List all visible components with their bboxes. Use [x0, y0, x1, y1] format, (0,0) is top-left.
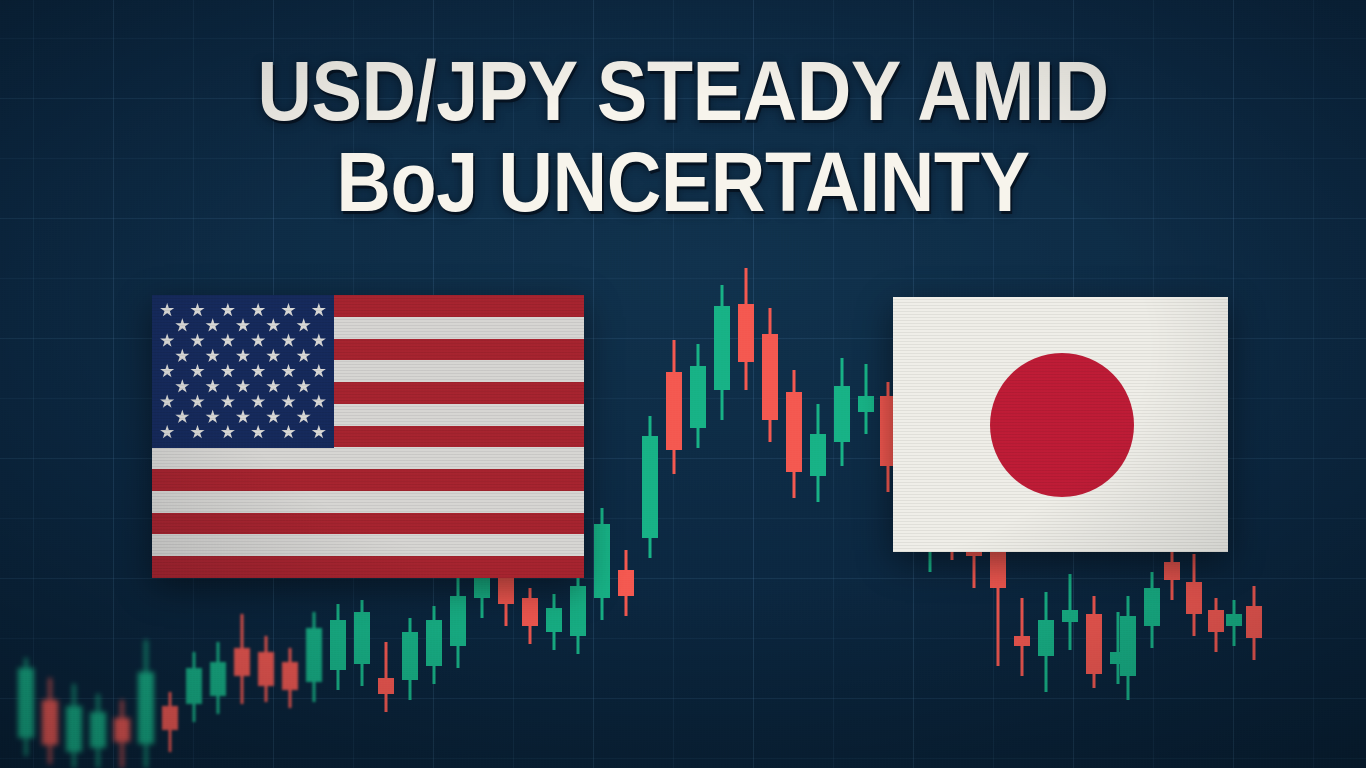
candle-body	[138, 672, 154, 744]
star-icon	[281, 394, 295, 407]
star-icon	[281, 364, 295, 377]
star-icon	[190, 303, 204, 316]
us-stripe	[152, 513, 584, 535]
candle-body	[90, 712, 106, 748]
candle-body	[546, 608, 562, 632]
star-icon	[175, 349, 189, 362]
star-icon	[206, 410, 220, 423]
candle-body	[210, 662, 226, 696]
candle-body	[66, 706, 82, 752]
candle-body	[1062, 610, 1078, 622]
candle-body	[1226, 614, 1242, 626]
candle-body	[18, 668, 34, 738]
star-icon	[312, 333, 326, 346]
star-icon	[206, 349, 220, 362]
star-icon	[297, 349, 311, 362]
candle-body	[378, 678, 394, 694]
candle-body	[1120, 616, 1136, 676]
candle-body	[642, 436, 658, 538]
star-icon	[281, 425, 295, 438]
star-icon	[297, 379, 311, 392]
star-icon	[190, 333, 204, 346]
candle-body	[834, 386, 850, 442]
us-flag-canton	[152, 295, 334, 448]
star-icon	[266, 318, 280, 331]
candle-wick	[1117, 612, 1120, 684]
candle-wick	[385, 642, 388, 712]
candle-body	[786, 392, 802, 472]
us-stripe	[152, 556, 584, 578]
star-icon	[190, 425, 204, 438]
candle-body	[1208, 610, 1224, 632]
us-stripe	[152, 469, 584, 491]
star-icon	[251, 333, 265, 346]
candle-body	[570, 586, 586, 636]
star-icon	[312, 425, 326, 438]
star-icon	[281, 303, 295, 316]
candle-body	[1186, 582, 1202, 614]
candle-body	[594, 524, 610, 598]
us-stripe	[152, 491, 584, 513]
japan-flag	[893, 297, 1228, 552]
star-icon	[266, 349, 280, 362]
candle-body	[450, 596, 466, 646]
us-stripe	[152, 534, 584, 556]
candle-body	[354, 612, 370, 664]
candle-body	[306, 628, 322, 682]
star-icon	[297, 318, 311, 331]
candle-body	[1014, 636, 1030, 646]
candle-body	[1086, 614, 1102, 674]
candle-body	[402, 632, 418, 680]
star-icon	[221, 333, 235, 346]
star-icon	[236, 410, 250, 423]
candle-body	[1246, 606, 1262, 638]
star-icon	[190, 394, 204, 407]
star-icon	[221, 425, 235, 438]
star-icon	[251, 394, 265, 407]
star-icon	[221, 303, 235, 316]
star-icon	[160, 394, 174, 407]
united-states-flag	[152, 295, 584, 578]
star-icon	[297, 410, 311, 423]
japan-flag-sun-disc	[990, 353, 1134, 497]
star-icon	[281, 333, 295, 346]
candle-body	[858, 396, 874, 412]
star-icon	[221, 364, 235, 377]
candle-body	[234, 648, 250, 676]
candle-body	[618, 570, 634, 596]
star-icon	[312, 394, 326, 407]
star-icon	[251, 425, 265, 438]
star-icon	[175, 379, 189, 392]
star-icon	[190, 364, 204, 377]
star-icon	[236, 349, 250, 362]
candle-body	[738, 304, 754, 362]
candle-body	[1164, 562, 1180, 580]
star-icon	[266, 379, 280, 392]
candle-body	[426, 620, 442, 666]
candle-body	[1038, 620, 1054, 656]
candle-body	[690, 366, 706, 428]
candle-body	[762, 334, 778, 420]
chart-candles-far	[18, 640, 154, 768]
candle-body	[714, 306, 730, 390]
star-icon	[175, 318, 189, 331]
thumbnail-canvas: USD/JPY STEADY AMID BoJ UNCERTAINTY	[0, 0, 1366, 768]
star-icon	[236, 318, 250, 331]
candle-body	[522, 598, 538, 626]
candle-body	[810, 434, 826, 476]
candle-body	[330, 620, 346, 670]
candle-body	[990, 548, 1006, 588]
star-icon	[175, 410, 189, 423]
candle-body	[114, 718, 130, 742]
star-icon	[160, 425, 174, 438]
star-icon	[236, 379, 250, 392]
star-icon	[251, 303, 265, 316]
star-icon	[221, 394, 235, 407]
candle-body	[282, 662, 298, 690]
star-icon	[312, 303, 326, 316]
star-icon	[206, 379, 220, 392]
star-icon	[266, 410, 280, 423]
star-icon	[160, 364, 174, 377]
star-icon	[160, 333, 174, 346]
chart-candles-mid	[162, 612, 322, 752]
star-icon	[206, 318, 220, 331]
candle-body	[186, 668, 202, 704]
candle-body	[258, 652, 274, 686]
star-icon	[251, 364, 265, 377]
star-icon	[312, 364, 326, 377]
us-stripe	[152, 447, 584, 469]
candle-body	[666, 372, 682, 450]
candle-body	[1144, 588, 1160, 626]
candle-body	[42, 700, 58, 745]
candle-body	[162, 706, 178, 730]
star-icon	[160, 303, 174, 316]
